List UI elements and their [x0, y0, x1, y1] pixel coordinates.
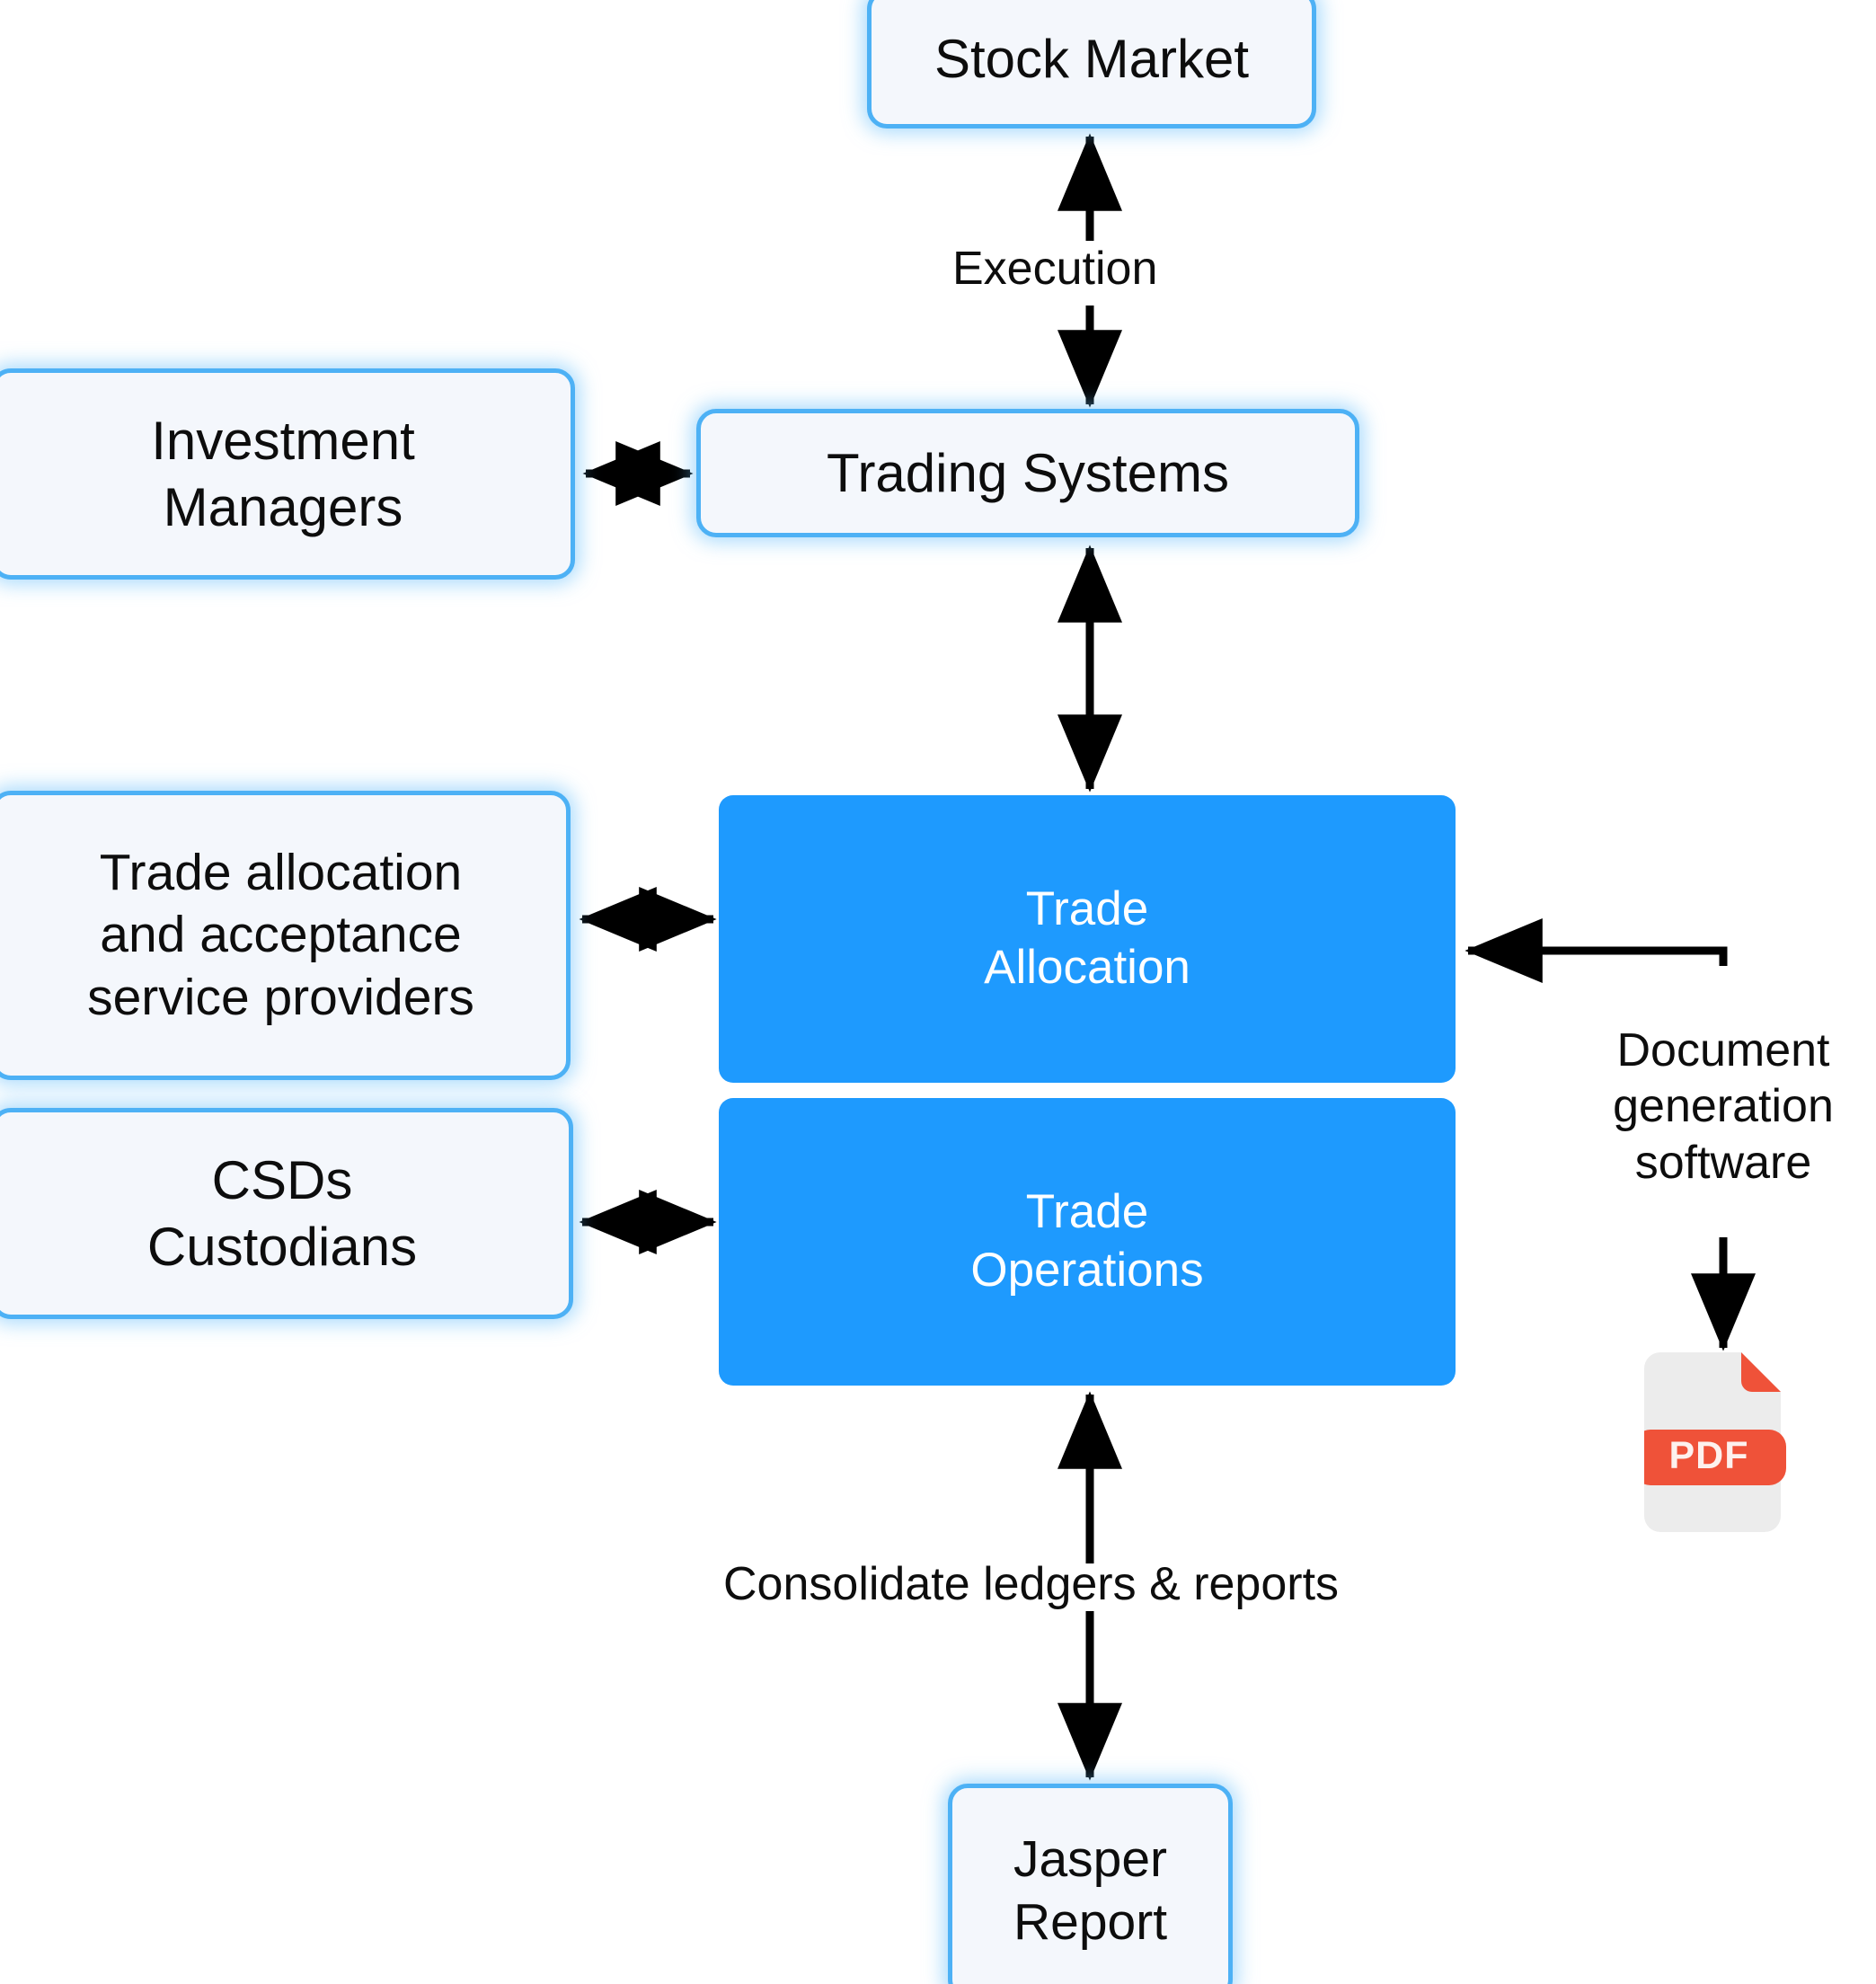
node-csds-custodians[interactable]: CSDs Custodians	[0, 1108, 573, 1319]
node-trade-operations-line-1: Operations	[970, 1242, 1203, 1300]
node-jasper-report-line-0: Jasper	[1013, 1829, 1167, 1891]
edge-label-document-generation-line-1: generation	[1613, 1080, 1834, 1132]
node-trading-systems[interactable]: Trading Systems	[696, 409, 1359, 537]
node-stock-market-line-0: Stock Market	[934, 26, 1249, 92]
node-investment-managers-line-1: Managers	[151, 474, 414, 540]
node-investment-managers[interactable]: Investment Managers	[0, 368, 575, 580]
node-trade-allocation-providers-line-2: service providers	[87, 967, 474, 1030]
edge-label-execution-text: Execution	[952, 243, 1157, 295]
node-trade-allocation-providers[interactable]: Trade allocation and acceptance service …	[0, 791, 571, 1080]
edge-label-document-generation-line-0: Document	[1617, 1024, 1830, 1076]
edge-label-consolidate-text: Consolidate ledgers & reports	[723, 1558, 1339, 1610]
node-trade-allocation[interactable]: Trade Allocation	[719, 795, 1456, 1083]
node-jasper-report[interactable]: Jasper Report	[948, 1784, 1233, 1984]
edge-label-document-generation-line-2: software	[1635, 1137, 1812, 1189]
node-investment-managers-line-0: Investment	[151, 408, 414, 474]
edge-label-consolidate: Consolidate ledgers & reports	[723, 1556, 1339, 1612]
edge-docgen-to-allocation	[1468, 951, 1723, 966]
node-trade-operations[interactable]: Trade Operations	[719, 1098, 1456, 1386]
diagram-canvas: Stock Market Investment Managers Trading…	[0, 0, 1876, 1984]
node-trading-systems-line-0: Trading Systems	[827, 440, 1229, 506]
node-trade-allocation-line-0: Trade	[984, 881, 1190, 939]
node-trade-operations-line-0: Trade	[970, 1183, 1203, 1242]
node-trade-allocation-line-1: Allocation	[984, 939, 1190, 997]
node-trade-allocation-providers-line-1: and acceptance	[87, 904, 474, 967]
node-trade-allocation-providers-line-0: Trade allocation	[87, 842, 474, 905]
pdf-file-icon[interactable]: PDF	[1644, 1352, 1797, 1532]
edge-label-document-generation: Document generation software	[1586, 1023, 1861, 1191]
pdf-folded-corner	[1741, 1352, 1781, 1392]
node-csds-custodians-line-1: Custodians	[147, 1214, 417, 1280]
node-csds-custodians-line-0: CSDs	[147, 1147, 417, 1213]
edge-label-execution: Execution	[952, 241, 1157, 297]
node-jasper-report-line-1: Report	[1013, 1891, 1167, 1954]
node-stock-market[interactable]: Stock Market	[867, 0, 1316, 128]
pdf-badge-label: PDF	[1669, 1434, 1749, 1477]
